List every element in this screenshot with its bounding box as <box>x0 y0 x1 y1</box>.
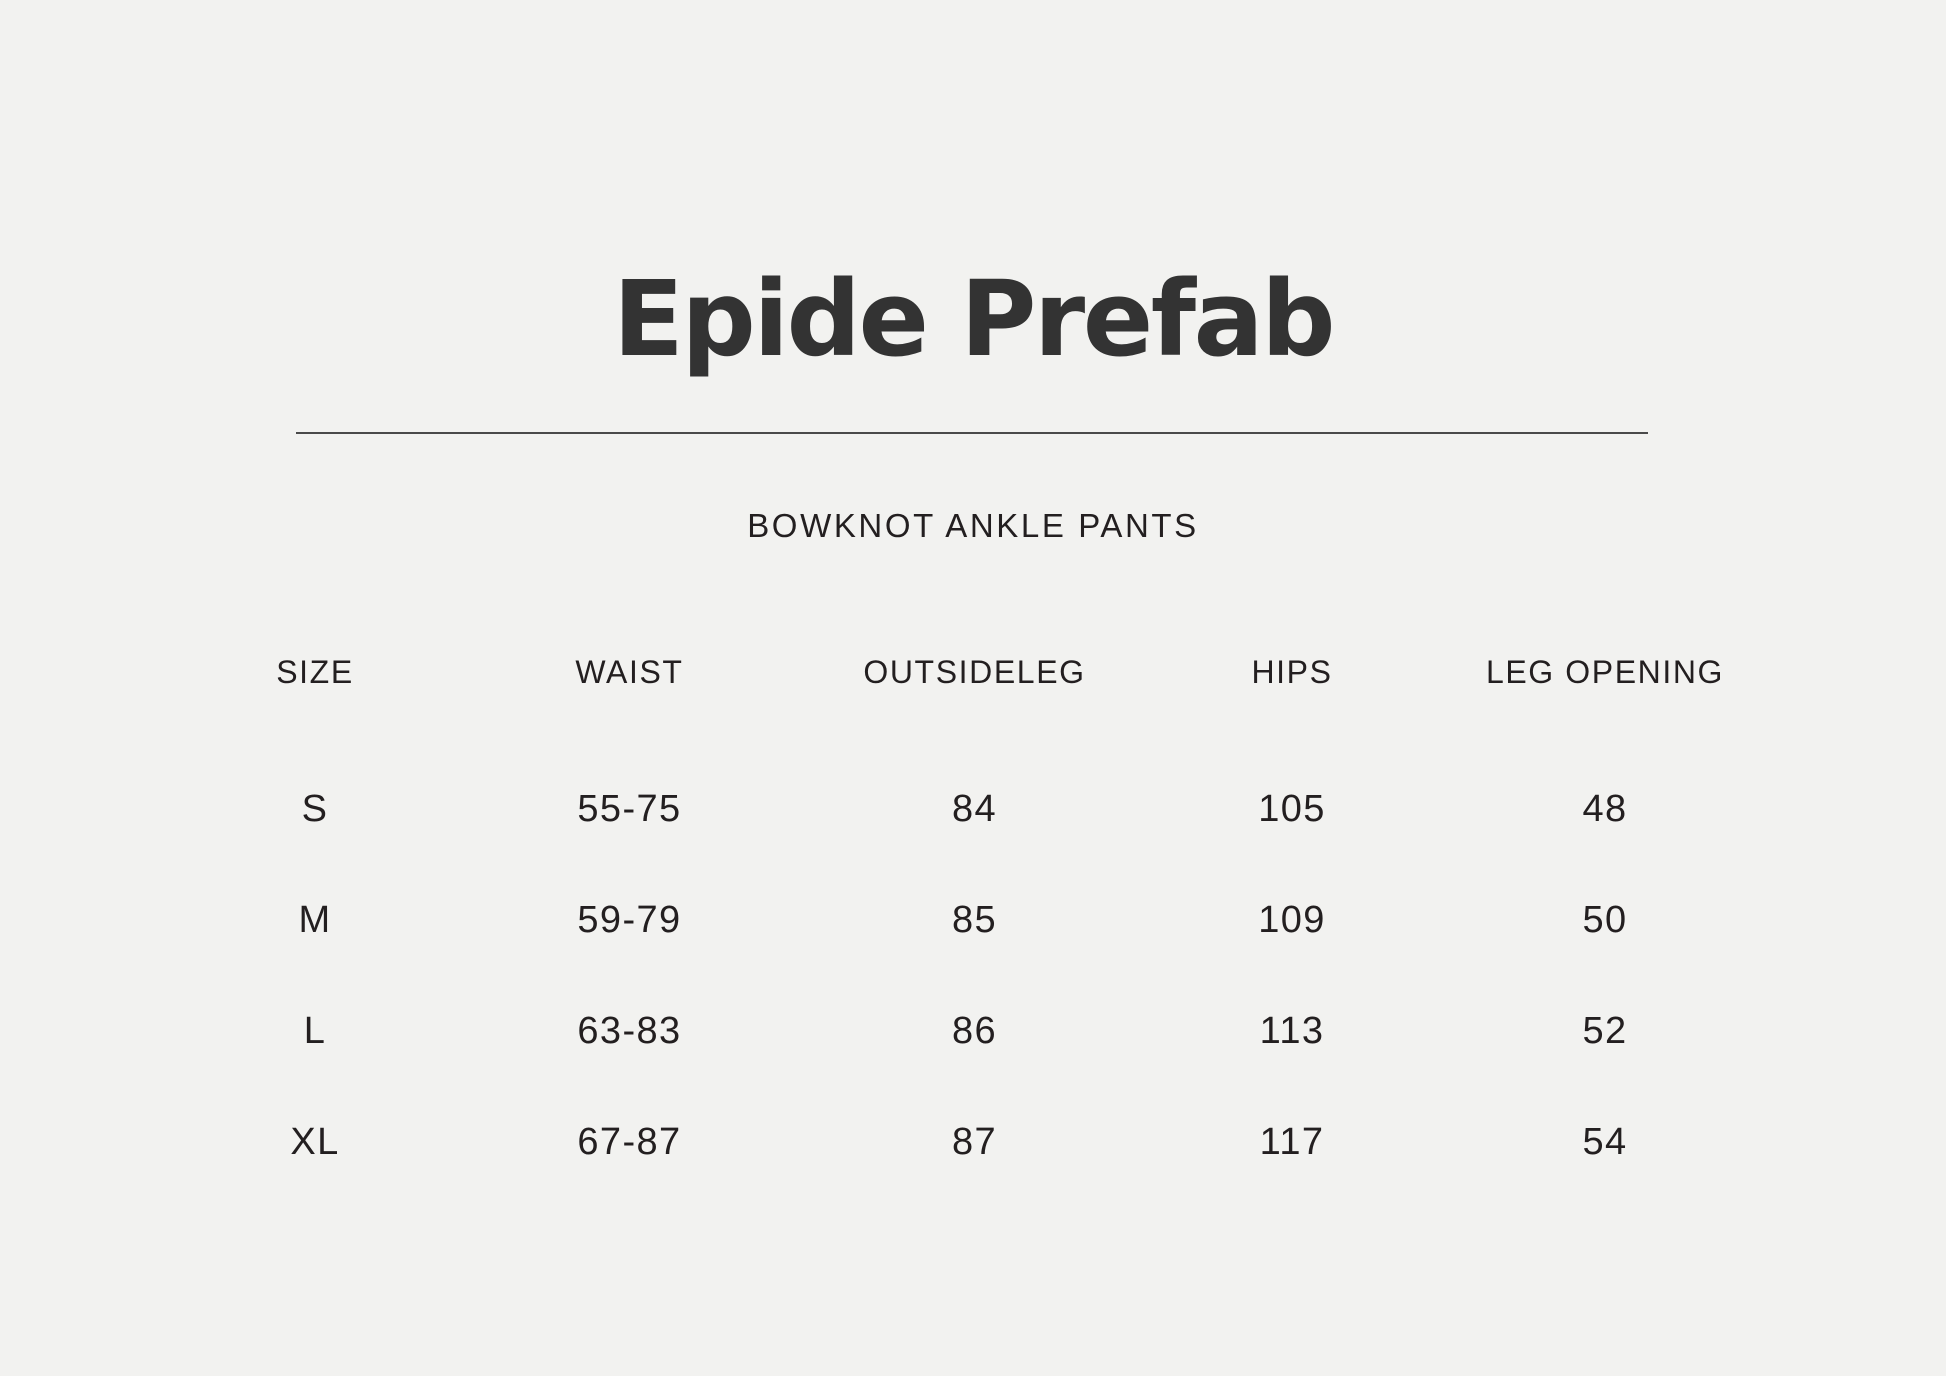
table-row: M 59-79 85 109 50 <box>173 865 1773 976</box>
cell-hips: 113 <box>1147 976 1437 1087</box>
table-row: L 63-83 86 113 52 <box>173 976 1773 1087</box>
column-header-hips: HIPS <box>1147 642 1437 702</box>
cell-outsideleg: 87 <box>802 1087 1147 1198</box>
cell-leg-opening: 52 <box>1437 976 1773 1087</box>
cell-waist: 59-79 <box>457 865 802 976</box>
column-header-outsideleg: OUTSIDELEG <box>802 642 1147 702</box>
cell-outsideleg: 85 <box>802 865 1147 976</box>
cell-hips: 117 <box>1147 1087 1437 1198</box>
table-header-row: SIZE WAIST OUTSIDELEG HIPS LEG OPENING <box>173 642 1773 702</box>
cell-waist: 67-87 <box>457 1087 802 1198</box>
column-header-leg-opening: LEG OPENING <box>1437 642 1773 702</box>
size-chart-table: SIZE WAIST OUTSIDELEG HIPS LEG OPENING S… <box>173 642 1773 1198</box>
cell-hips: 109 <box>1147 865 1437 976</box>
header-divider <box>296 432 1648 434</box>
product-name: BOWKNOT ANKLE PANTS <box>0 507 1946 545</box>
column-header-size: SIZE <box>173 642 457 702</box>
table-row: S 55-75 84 105 48 <box>173 702 1773 865</box>
cell-waist: 63-83 <box>457 976 802 1087</box>
cell-leg-opening: 54 <box>1437 1087 1773 1198</box>
cell-outsideleg: 86 <box>802 976 1147 1087</box>
cell-size: XL <box>173 1087 457 1198</box>
cell-size: M <box>173 865 457 976</box>
cell-leg-opening: 50 <box>1437 865 1773 976</box>
cell-hips: 105 <box>1147 702 1437 865</box>
cell-size: L <box>173 976 457 1087</box>
cell-waist: 55-75 <box>457 702 802 865</box>
cell-size: S <box>173 702 457 865</box>
table-row: XL 67-87 87 117 54 <box>173 1087 1773 1198</box>
page-title: Epide Prefab <box>0 266 1946 372</box>
cell-outsideleg: 84 <box>802 702 1147 865</box>
column-header-waist: WAIST <box>457 642 802 702</box>
size-chart-page: Epide Prefab BOWKNOT ANKLE PANTS SIZE WA… <box>0 0 1946 1376</box>
cell-leg-opening: 48 <box>1437 702 1773 865</box>
